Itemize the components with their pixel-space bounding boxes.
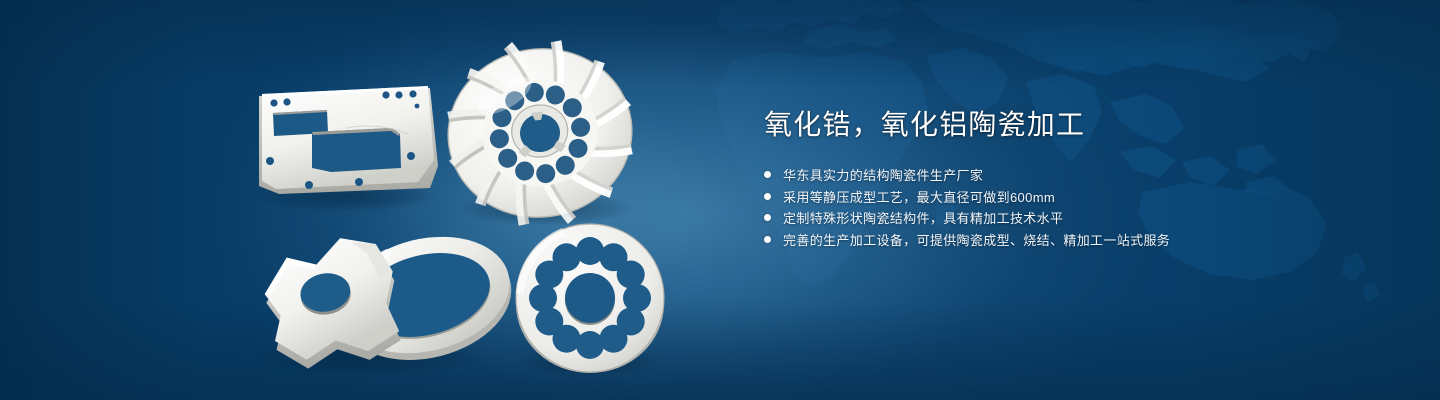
list-item-label: 采用等静压成型工艺，最大直径可做到600mm [783,187,1055,206]
ceramic-products-image [0,0,700,400]
list-item: 完善的生产加工设备，可提供陶瓷成型、烧结、精加工一站式服务 [764,229,1384,251]
list-item: 采用等静压成型工艺，最大直径可做到600mm [764,186,1384,208]
list-item: 定制特殊形状陶瓷结构件，具有精加工技术水平 [764,207,1384,229]
list-item-label: 定制特殊形状陶瓷结构件，具有精加工技术水平 [783,208,1063,227]
filled-circle-bullet-icon [764,171,771,178]
ceramic-perforated-disc [516,224,664,373]
banner-copy: 氧化锆，氧化铝陶瓷加工 华东具实力的结构陶瓷件生产厂家 采用等静压成型工艺，最大… [764,108,1384,250]
feature-list: 华东具实力的结构陶瓷件生产厂家 采用等静压成型工艺，最大直径可做到600mm 定… [764,164,1384,250]
list-item-label: 华东具实力的结构陶瓷件生产厂家 [783,165,983,184]
ceramic-machined-plate [259,86,438,194]
hero-banner: 氧化锆，氧化铝陶瓷加工 华东具实力的结构陶瓷件生产厂家 采用等静压成型工艺，最大… [0,0,1440,400]
filled-circle-bullet-icon [764,193,771,200]
page-title: 氧化锆，氧化铝陶瓷加工 [764,108,1384,141]
filled-circle-bullet-icon [764,214,771,221]
list-item-label: 完善的生产加工设备，可提供陶瓷成型、烧结、精加工一站式服务 [783,230,1170,249]
list-item: 华东具实力的结构陶瓷件生产厂家 [764,164,1384,186]
filled-circle-bullet-icon [764,236,771,243]
